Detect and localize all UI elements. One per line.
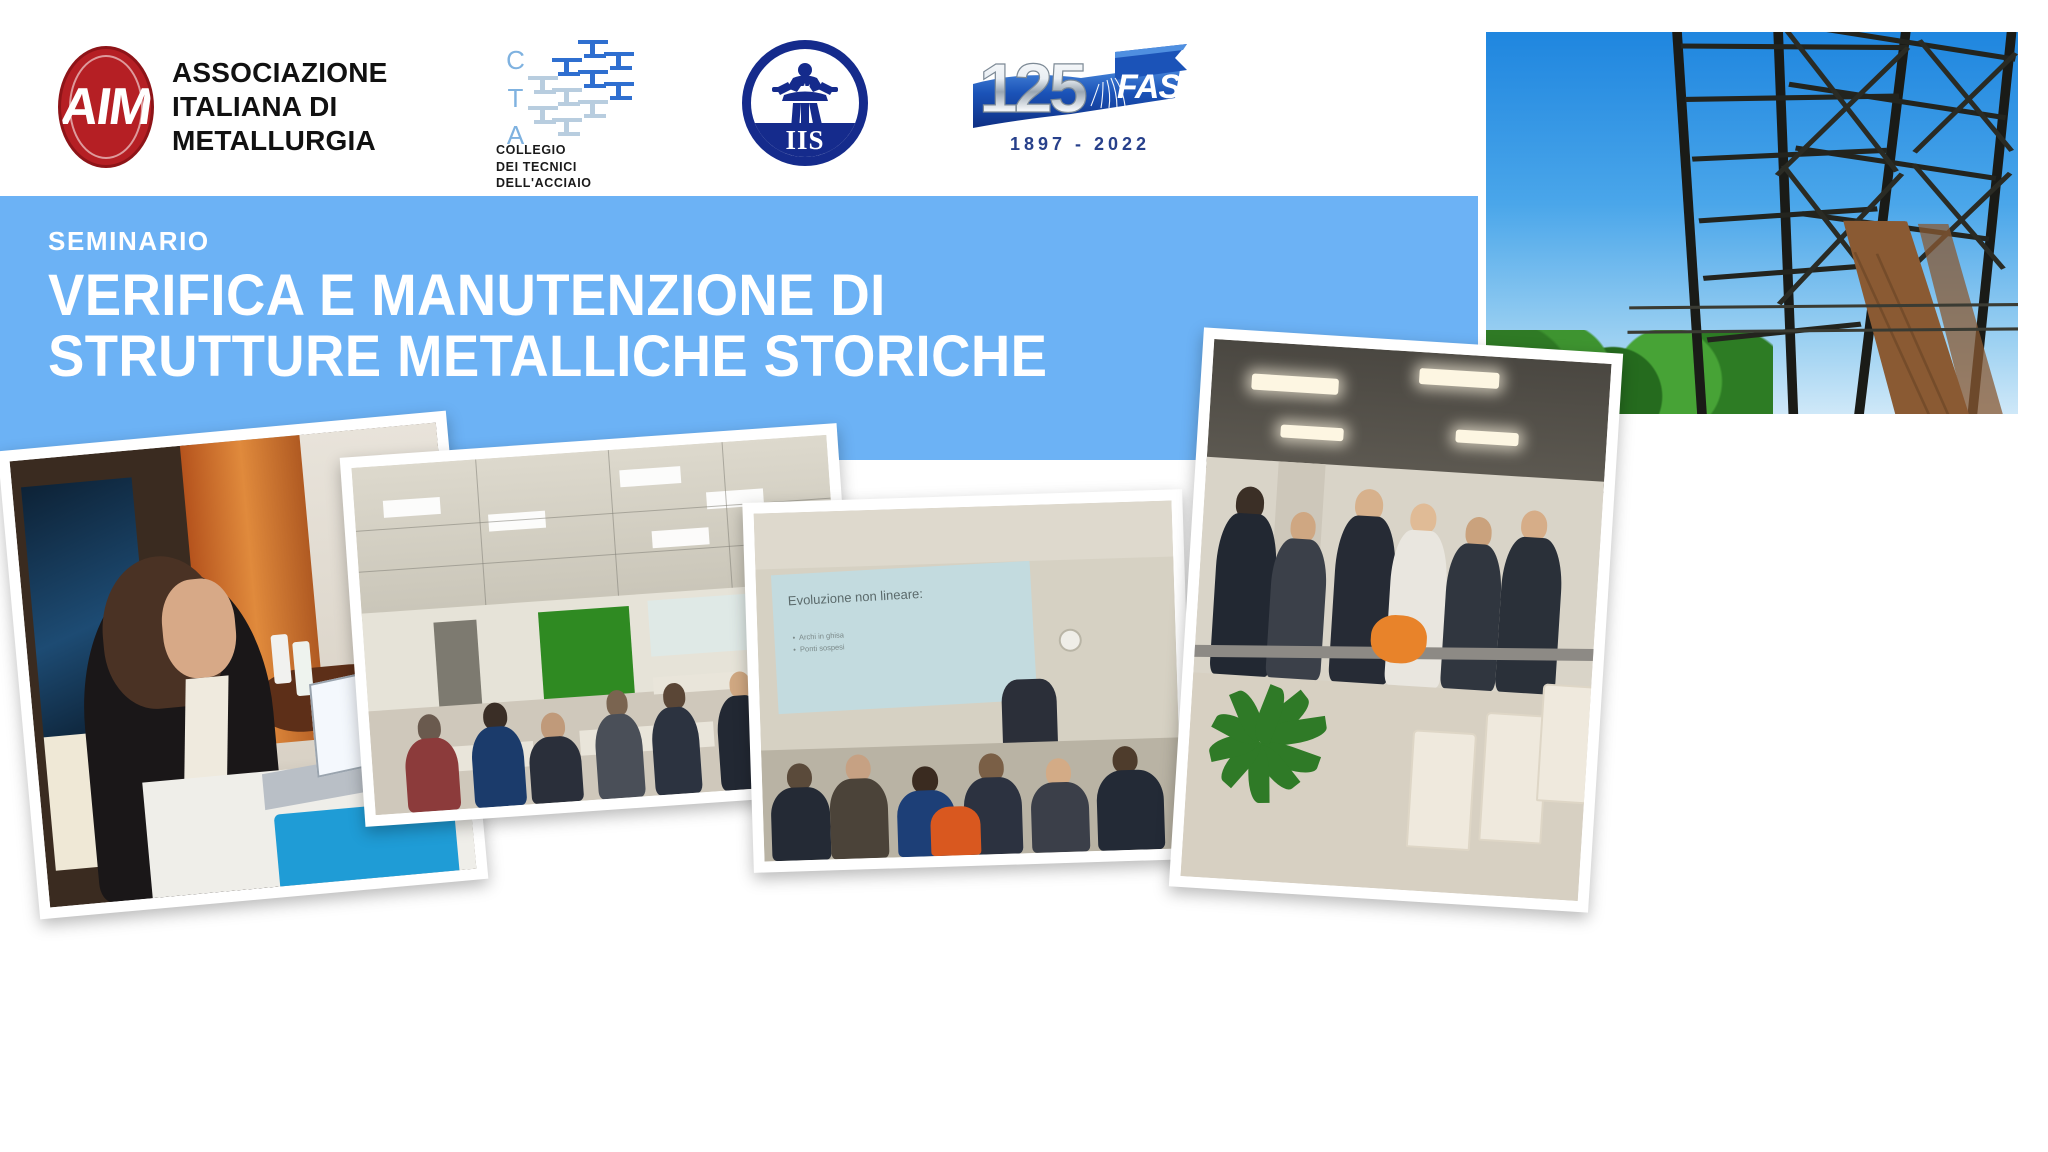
- projected-slide: Evoluzione non lineare: • Archi in ghisa…: [771, 561, 1038, 714]
- slide-title: Evoluzione non lineare:: [787, 587, 923, 610]
- aim-emblem-icon: AIM: [58, 46, 154, 168]
- aim-wordmark: ASSOCIAZIONE ITALIANA DI METALLURGIA: [172, 56, 388, 158]
- cta-logo: C T A: [490, 36, 640, 170]
- banner-title-line-2: STRUTTURE METALLICHE STORICHE: [48, 326, 1366, 387]
- aim-name-line-1: ASSOCIAZIONE: [172, 56, 388, 90]
- cta-sub-line-1: COLLEGIO: [496, 142, 640, 159]
- iis-logo: IIS: [742, 40, 868, 166]
- banner-title-line-1: VERIFICA E MANUTENZIONE DI: [48, 265, 1366, 326]
- iis-label: IIS: [751, 125, 859, 156]
- aim-emblem-text: AIM: [58, 81, 154, 133]
- poster-canvas: AIM ASSOCIAZIONE ITALIANA DI METALLURGIA…: [0, 0, 2048, 1152]
- fast-anniversary-years: 1897 - 2022: [965, 134, 1195, 155]
- cta-sub-line-3: DELL'ACCIAIO: [496, 175, 640, 192]
- svg-text:125: 125: [979, 49, 1086, 127]
- cta-steel-beams-icon: [526, 38, 638, 146]
- audience-presentation-photo: Evoluzione non lineare: • Archi in ghisa…: [742, 489, 1193, 873]
- aim-logo: AIM ASSOCIAZIONE ITALIANA DI METALLURGIA: [58, 46, 388, 168]
- fast-125-logo: 125 FAST 1897 - 2022: [965, 38, 1195, 156]
- aim-name-line-3: METALLURGIA: [172, 124, 388, 158]
- iis-circle-icon: IIS: [742, 40, 868, 166]
- coffee-break-photo: [1169, 327, 1623, 912]
- banner-kicker: SEMINARIO: [48, 226, 1450, 257]
- slide-bullets: • Archi in ghisa • Ponti sospesi: [792, 630, 845, 656]
- fruit-bowl: [1369, 613, 1428, 665]
- potted-palm: [1188, 619, 1339, 885]
- cta-subtitle: COLLEGIO DEI TECNICI DELL'ACCIAIO: [496, 142, 640, 192]
- svg-text:FAST: FAST: [1117, 68, 1195, 106]
- fast-125-emblem-icon: 125 FAST: [965, 38, 1195, 138]
- steel-truss-structure: [1621, 32, 2018, 414]
- slide-bullet-2: • Ponti sospesi: [793, 642, 845, 656]
- aim-name-line-2: ITALIANA DI: [172, 90, 388, 124]
- logo-bar: AIM ASSOCIAZIONE ITALIANA DI METALLURGIA…: [0, 0, 1490, 196]
- photo-collage: Evoluzione non lineare: • Archi in ghisa…: [0, 430, 2048, 1152]
- cta-sub-line-2: DEI TECNICI: [496, 159, 640, 176]
